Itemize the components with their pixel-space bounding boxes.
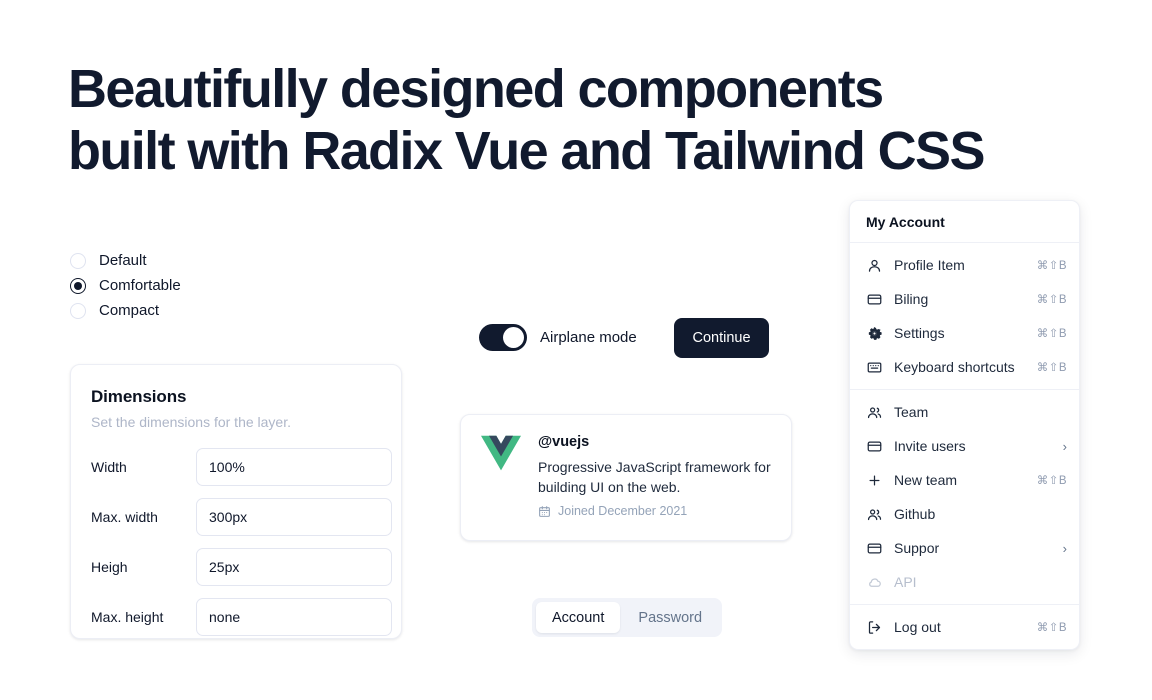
gear-icon xyxy=(866,325,882,341)
menu-item-shortcut: ⌘⇧B xyxy=(1037,473,1067,487)
menu-item-shortcut: ⌘⇧B xyxy=(1037,620,1067,634)
menu-item-biling[interactable]: Biling⌘⇧B xyxy=(850,282,1079,316)
users-icon xyxy=(866,404,882,420)
menu-item-shortcut: ⌘⇧B xyxy=(1037,292,1067,306)
dimensions-card: Dimensions Set the dimensions for the la… xyxy=(70,364,402,639)
calendar-icon xyxy=(538,505,551,518)
logout-icon xyxy=(866,619,882,635)
heading-line-1: Beautifully designed components xyxy=(68,59,883,119)
credit-card-icon xyxy=(866,438,882,454)
dimension-input-2[interactable] xyxy=(196,548,392,586)
menu-header: My Account xyxy=(850,201,1079,242)
menu-item-suppor[interactable]: Suppor› xyxy=(850,531,1079,565)
menu-item-shortcut: ⌘⇧B xyxy=(1037,258,1067,272)
plus-icon xyxy=(866,472,882,488)
airplane-mode-row: Airplane mode xyxy=(479,324,637,351)
menu-item-label: Invite users xyxy=(894,438,1051,454)
cloud-icon xyxy=(866,574,882,590)
radio-option-comfortable[interactable]: Comfortable xyxy=(70,273,310,298)
menu-item-keyboard-shortcuts[interactable]: Keyboard shortcuts⌘⇧B xyxy=(850,350,1079,384)
dimensions-fields: WidthMax. widthHeighMax. height xyxy=(91,448,381,636)
keyboard-icon xyxy=(866,359,882,375)
vuejs-description: Progressive JavaScript framework for bui… xyxy=(538,457,775,497)
dimension-row: Heigh xyxy=(91,548,381,586)
menu-item-settings[interactable]: Settings⌘⇧B xyxy=(850,316,1079,350)
dimension-input-3[interactable] xyxy=(196,598,392,636)
credit-card-icon xyxy=(866,540,882,556)
menu-item-api: API xyxy=(850,565,1079,599)
menu-item-log-out[interactable]: Log out⌘⇧B xyxy=(850,610,1079,644)
tab-account[interactable]: Account xyxy=(536,602,620,633)
radio-indicator xyxy=(70,278,86,294)
user-icon xyxy=(866,257,882,273)
menu-item-label: Suppor xyxy=(894,540,1051,556)
dimension-row: Width xyxy=(91,448,381,486)
menu-item-label: Settings xyxy=(894,325,1025,341)
menu-item-new-team[interactable]: New team⌘⇧B xyxy=(850,463,1079,497)
menu-item-shortcut: ⌘⇧B xyxy=(1037,360,1067,374)
menu-item-team[interactable]: Team xyxy=(850,395,1079,429)
menu-groups: Profile Item⌘⇧BBiling⌘⇧BSettings⌘⇧BKeybo… xyxy=(850,243,1079,649)
vuejs-handle: @vuejs xyxy=(538,434,775,450)
dimension-input-0[interactable] xyxy=(196,448,392,486)
hover-card-body: @vuejs Progressive JavaScript framework … xyxy=(538,433,775,540)
dimension-input-1[interactable] xyxy=(196,498,392,536)
credit-card-icon xyxy=(866,291,882,307)
dimensions-description: Set the dimensions for the layer. xyxy=(91,414,381,430)
radio-indicator xyxy=(70,253,86,269)
menu-item-label: Log out xyxy=(894,619,1025,635)
users-icon xyxy=(866,506,882,522)
vuejs-joined-row: Joined December 2021 xyxy=(538,504,775,518)
dimension-label: Width xyxy=(91,459,196,475)
menu-item-label: Keyboard shortcuts xyxy=(894,359,1025,375)
airplane-mode-switch[interactable] xyxy=(479,324,527,351)
dimensions-title: Dimensions xyxy=(91,387,381,407)
account-dropdown-menu: My Account Profile Item⌘⇧BBiling⌘⇧BSetti… xyxy=(849,200,1080,650)
settings-tabs: AccountPassword xyxy=(532,598,722,637)
dimension-label: Max. height xyxy=(91,609,196,625)
radio-label: Compact xyxy=(99,303,159,318)
chevron-right-icon: › xyxy=(1063,440,1067,453)
radio-indicator xyxy=(70,303,86,319)
vuejs-hover-card: @vuejs Progressive JavaScript framework … xyxy=(460,414,792,541)
dimension-label: Max. width xyxy=(91,509,196,525)
dimension-row: Max. height xyxy=(91,598,381,636)
tab-password[interactable]: Password xyxy=(622,602,718,633)
menu-item-github[interactable]: Github xyxy=(850,497,1079,531)
menu-item-label: Biling xyxy=(894,291,1025,307)
radio-label: Default xyxy=(99,253,147,268)
menu-group: Profile Item⌘⇧BBiling⌘⇧BSettings⌘⇧BKeybo… xyxy=(850,243,1079,389)
vue-logo-icon xyxy=(481,435,521,471)
chevron-right-icon: › xyxy=(1063,542,1067,555)
dimension-row: Max. width xyxy=(91,498,381,536)
menu-item-invite-users[interactable]: Invite users› xyxy=(850,429,1079,463)
heading-line-2: built with Radix Vue and Tailwind CSS xyxy=(68,121,984,181)
page-heading: Beautifully designed components built wi… xyxy=(68,58,1028,182)
menu-item-label: Team xyxy=(894,404,1067,420)
continue-button[interactable]: Continue xyxy=(674,318,769,358)
menu-item-profile-item[interactable]: Profile Item⌘⇧B xyxy=(850,248,1079,282)
menu-item-label: Github xyxy=(894,506,1067,522)
radio-option-default[interactable]: Default xyxy=(70,248,310,273)
density-radio-group: DefaultComfortableCompact xyxy=(70,248,310,323)
switch-knob xyxy=(503,327,524,348)
radio-option-compact[interactable]: Compact xyxy=(70,298,310,323)
menu-group: Log out⌘⇧B xyxy=(850,605,1079,649)
airplane-mode-label: Airplane mode xyxy=(540,329,637,346)
menu-group: TeamInvite users›New team⌘⇧BGithubSuppor… xyxy=(850,390,1079,604)
menu-item-label: New team xyxy=(894,472,1025,488)
vuejs-joined-text: Joined December 2021 xyxy=(558,504,687,518)
menu-item-label: API xyxy=(894,574,1067,590)
radio-label: Comfortable xyxy=(99,278,181,293)
dimension-label: Heigh xyxy=(91,559,196,575)
menu-item-label: Profile Item xyxy=(894,257,1025,273)
menu-item-shortcut: ⌘⇧B xyxy=(1037,326,1067,340)
